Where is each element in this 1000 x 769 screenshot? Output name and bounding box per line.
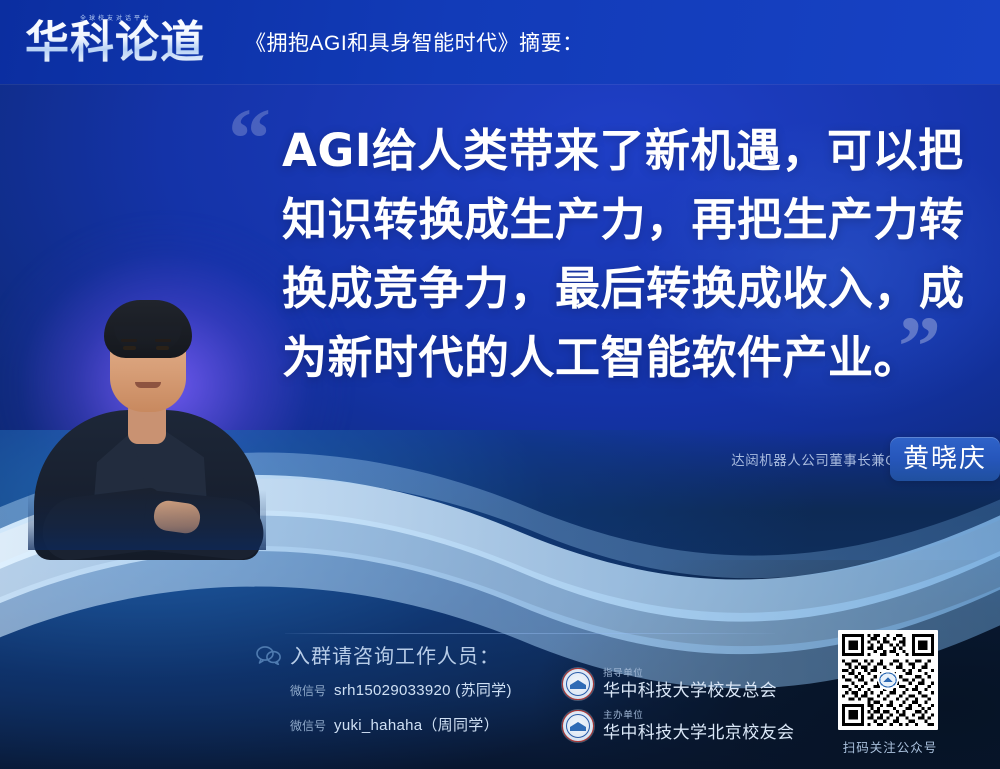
wechat-icon — [256, 645, 282, 665]
organization-item: 指导单位 华中科技大学校友总会 — [562, 668, 794, 700]
footer-divider — [285, 633, 775, 634]
portrait-eye-right — [156, 346, 169, 350]
portrait-hair — [104, 300, 192, 358]
organization-item: 主办单位 华中科技大学北京校友会 — [562, 710, 794, 742]
portrait-brow-left — [121, 339, 137, 342]
quote-line: 换成竞争力，最后转换成收入，成 — [282, 254, 942, 323]
contact-heading: 入群请咨询工作人员： — [290, 640, 500, 669]
organization-name: 华中科技大学北京校友会 — [603, 724, 794, 741]
attribution: 达闼机器人公司董事长兼CEO — [731, 449, 916, 469]
organization-name: 华中科技大学校友总会 — [603, 682, 777, 699]
contact-label: 微信号 — [290, 717, 326, 734]
contact-value[interactable]: yuki_hahaha（周同学） — [334, 714, 499, 735]
contact-value[interactable]: srh15029033920 (苏同学) — [334, 679, 512, 700]
quote-body: AGI给人类带来了新机遇，可以把 知识转换成生产力，再把生产力转 换成竞争力，最… — [282, 116, 942, 392]
quote-close-mark: ” — [898, 316, 941, 376]
qr-caption: 扫码关注公众号 — [838, 737, 942, 756]
quote-open-mark: “ — [228, 108, 271, 168]
portrait-eye-left — [123, 346, 136, 350]
brand-logo[interactable]: 全球校友对话平台 华科论道 — [25, 11, 221, 73]
qr-code-icon[interactable] — [838, 630, 938, 730]
header-bar: 全球校友对话平台 华科论道 《拥抱AGI和具身智能时代》摘要： — [0, 0, 1000, 84]
portrait-mouth — [135, 382, 161, 388]
speaker-title: 达闼机器人公司董事长兼CEO — [731, 449, 916, 469]
university-seal-icon — [562, 668, 594, 700]
organization-kind: 主办单位 — [603, 711, 794, 721]
contact-label: 微信号 — [290, 682, 326, 699]
qr-block: 扫码关注公众号 — [838, 630, 942, 756]
portrait-brow-right — [155, 339, 171, 342]
page-title: 《拥抱AGI和具身智能时代》摘要： — [245, 27, 584, 57]
portrait-bottom-fade — [28, 490, 266, 550]
university-seal-icon — [562, 710, 594, 742]
contact-row: 微信号 srh15029033920 (苏同学) — [290, 679, 512, 700]
contact-row: 微信号 yuki_hahaha（周同学） — [290, 714, 499, 735]
organization-kind: 指导单位 — [603, 669, 777, 679]
logo-wordmark: 华科论道 — [25, 17, 205, 69]
speaker-name-badge: 黄晓庆 — [890, 437, 1000, 481]
speaker-portrait — [28, 282, 266, 550]
organization-list: 指导单位 华中科技大学校友总会 主办单位 华中科技大学北京校友会 — [562, 668, 794, 742]
quote-line: 知识转换成生产力，再把生产力转 — [282, 185, 942, 254]
quote-line: 为新时代的人工智能软件产业。 — [282, 323, 942, 392]
quote-line: AGI给人类带来了新机遇，可以把 — [282, 116, 942, 185]
poster-canvas: 全球校友对话平台 华科论道 《拥抱AGI和具身智能时代》摘要： “ AGI给人类… — [0, 0, 1000, 769]
